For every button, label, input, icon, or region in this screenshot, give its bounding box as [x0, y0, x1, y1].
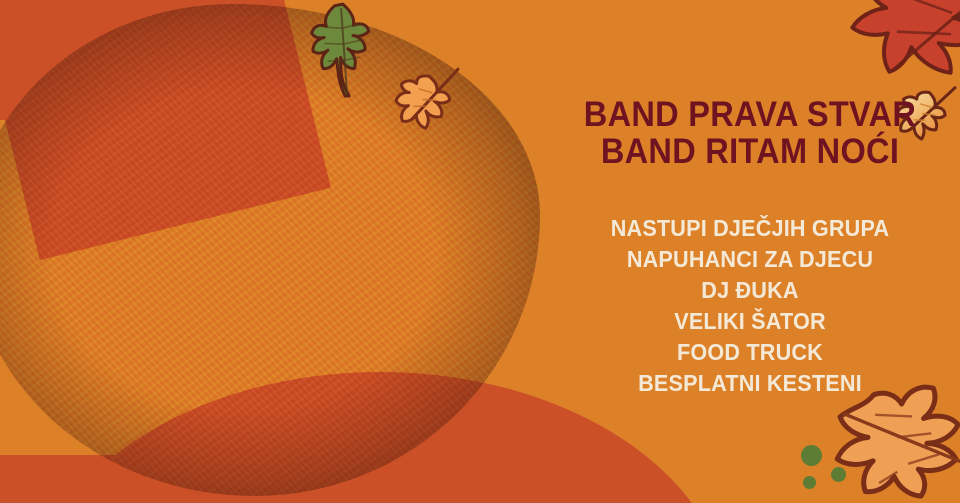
program-item-2: NAPUHANCI ZA DJECU	[557, 244, 943, 275]
peach-oak-leaf-icon	[390, 58, 463, 148]
program-item-6: BESPLATNI KESTENI	[557, 368, 943, 399]
text-column: BAND PRAVA STVAR BAND RITAM NOĆI NASTUPI…	[540, 0, 960, 503]
program-item-1: NASTUPI DJEČJIH GRUPA	[557, 213, 943, 244]
program-list: NASTUPI DJEČJIH GRUPA NAPUHANCI ZA DJECU…	[557, 213, 943, 399]
headline-line-2: BAND RITAM NOĆI	[555, 133, 946, 170]
program-item-3: DJ ĐUKA	[557, 275, 943, 306]
program-item-4: VELIKI ŠATOR	[557, 306, 943, 337]
headline-line-1: BAND PRAVA STVAR	[555, 96, 946, 133]
headline: BAND PRAVA STVAR BAND RITAM NOĆI	[555, 96, 946, 170]
program-item-5: FOOD TRUCK	[557, 337, 943, 368]
green-oak-leaf-icon	[310, 0, 383, 100]
event-poster: BAND PRAVA STVAR BAND RITAM NOĆI NASTUPI…	[0, 0, 960, 503]
